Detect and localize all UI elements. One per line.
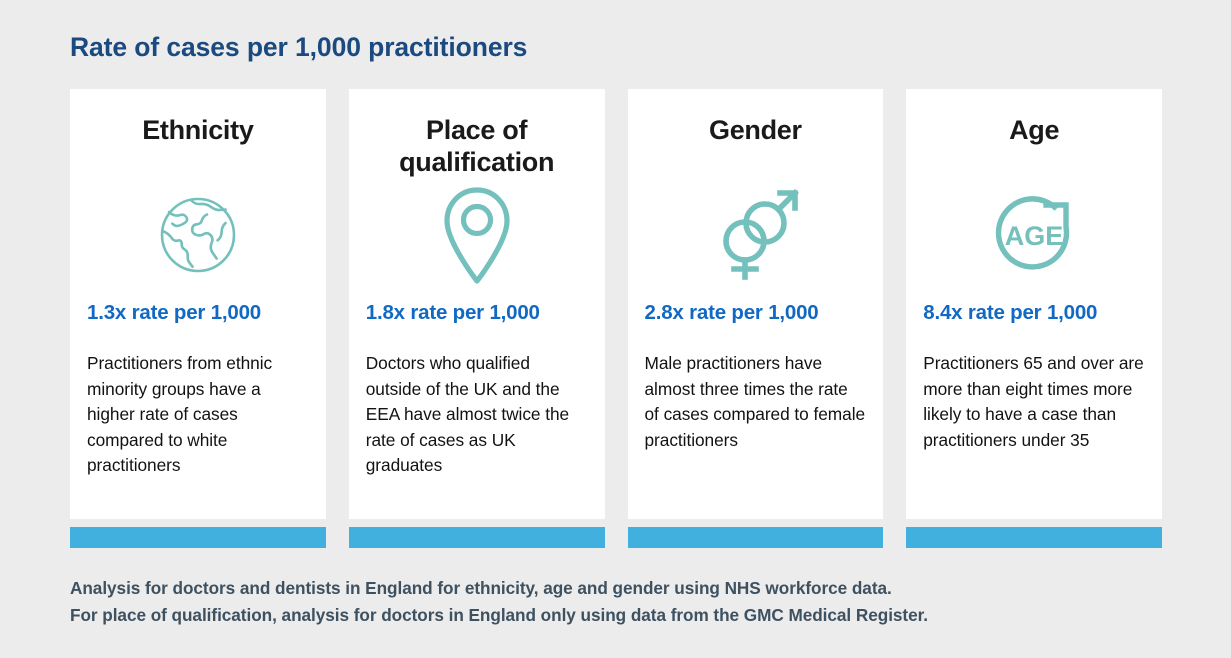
card-heading: Age: [923, 115, 1145, 181]
stat-card-age: Age AGE 8.4x rate per 1,000 Practitioner…: [906, 89, 1162, 548]
stat-card-gender: Gender 2.8x rate per 1,000 Male practiti…: [628, 89, 884, 548]
location-pin-icon: [366, 181, 588, 289]
gender-symbols-icon: [645, 181, 867, 289]
card-stat-value: 8.4x rate per 1,000: [923, 301, 1145, 325]
footnote-line-1: Analysis for doctors and dentists in Eng…: [70, 575, 1180, 602]
card-heading: Place of qualification: [366, 115, 588, 181]
card-body-text: Male practitioners have almost three tim…: [645, 351, 867, 453]
card-accent-bar: [628, 527, 884, 548]
card-stat-value: 2.8x rate per 1,000: [645, 301, 867, 325]
card-accent-bar: [349, 527, 605, 548]
card-surface: Age AGE 8.4x rate per 1,000 Practitioner…: [906, 89, 1162, 519]
card-heading: Gender: [645, 115, 867, 181]
page-title: Rate of cases per 1,000 practitioners: [70, 32, 527, 63]
card-accent-bar: [70, 527, 326, 548]
stat-cards-row: Ethnicity 1.3x rate per 1,000 Practition…: [70, 89, 1162, 548]
globe-icon: [87, 181, 309, 289]
age-cycle-icon: AGE: [923, 181, 1145, 289]
footnote: Analysis for doctors and dentists in Eng…: [70, 575, 1180, 628]
stat-card-ethnicity: Ethnicity 1.3x rate per 1,000 Practition…: [70, 89, 326, 548]
card-body-text: Doctors who qualified outside of the UK …: [366, 351, 588, 479]
stat-card-place-of-qualification: Place of qualification 1.8x rate per 1,0…: [349, 89, 605, 548]
card-surface: Gender 2.8x rate per 1,000 Male practiti…: [628, 89, 884, 519]
card-stat-value: 1.3x rate per 1,000: [87, 301, 309, 325]
footnote-line-2: For place of qualification, analysis for…: [70, 602, 1180, 629]
svg-text:AGE: AGE: [1005, 221, 1064, 251]
card-surface: Ethnicity 1.3x rate per 1,000 Practition…: [70, 89, 326, 519]
card-body-text: Practitioners from ethnic minority group…: [87, 351, 309, 479]
infographic-root: Rate of cases per 1,000 practitioners Et…: [0, 0, 1231, 658]
card-body-text: Practitioners 65 and over are more than …: [923, 351, 1145, 453]
card-surface: Place of qualification 1.8x rate per 1,0…: [349, 89, 605, 519]
card-accent-bar: [906, 527, 1162, 548]
card-heading: Ethnicity: [87, 115, 309, 181]
card-stat-value: 1.8x rate per 1,000: [366, 301, 588, 325]
